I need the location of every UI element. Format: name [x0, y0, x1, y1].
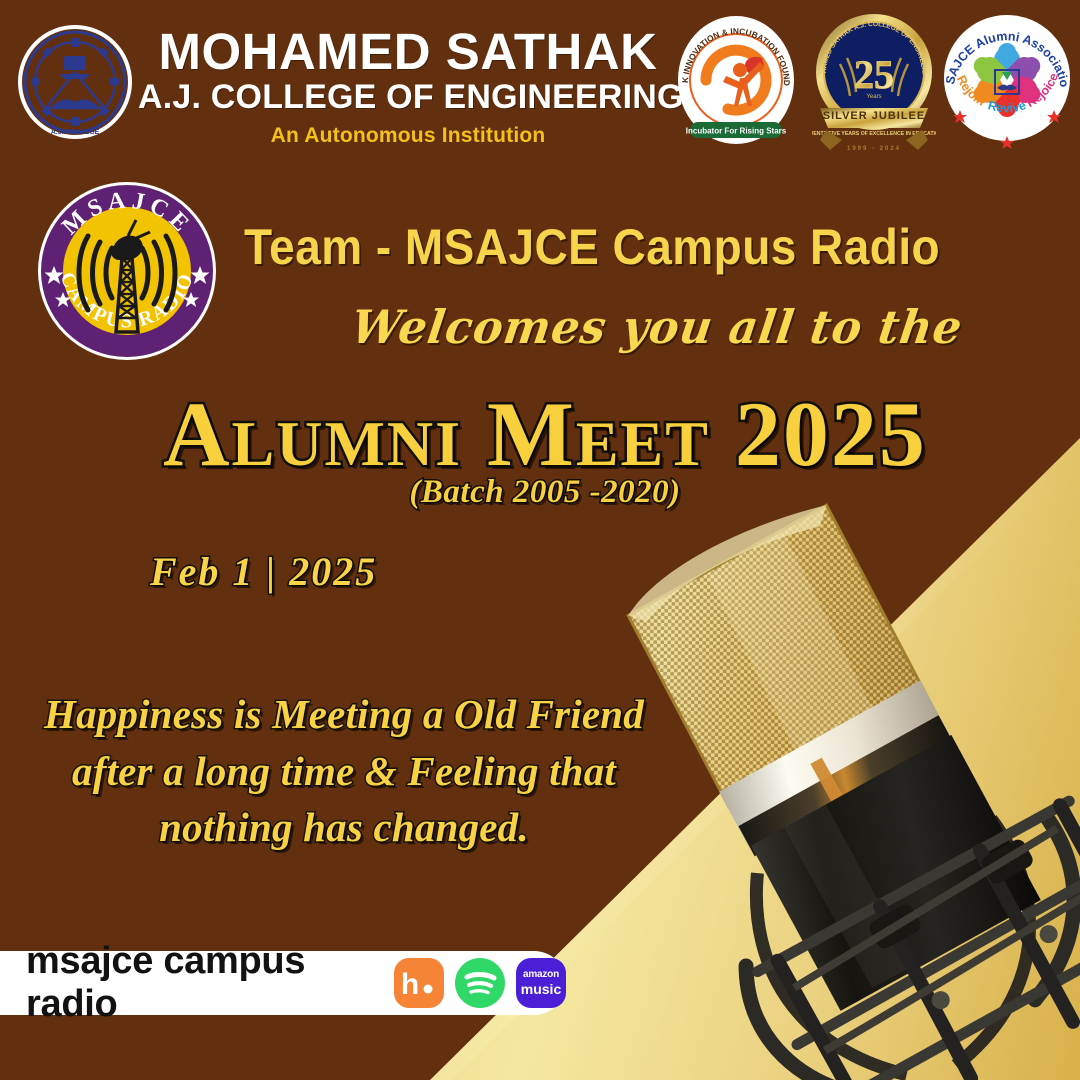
- msajce-campus-radio-logo: MSAJCE CAMPUS RADIO: [36, 180, 218, 362]
- svg-text:h: h: [401, 968, 419, 1001]
- college-crest-logo: A.J. COLLEGE: [16, 22, 134, 142]
- svg-text:Years: Years: [866, 94, 881, 100]
- svg-text:25: 25: [854, 52, 894, 97]
- alumni-meet-poster: A.J. COLLEGE MOHAMED SATHAK A.J. COLLEGE…: [0, 0, 1080, 1080]
- quote-line-1: Happiness is Meeting a Old Friend: [8, 686, 680, 743]
- event-title: Alumni Meet 2025: [60, 388, 1030, 480]
- sathak-innovation-incubation-foundation-logo: SATHAK INNOVATION & INCUBATION FOUNDATIO…: [676, 14, 796, 152]
- event-date: Feb 1 | 2025: [150, 548, 377, 595]
- svg-text:A.J. COLLEGE: A.J. COLLEGE: [51, 129, 100, 136]
- event-quote: Happiness is Meeting a Old Friend after …: [8, 686, 680, 856]
- msajce-alumni-association-logo: MSAJCE Alumni Association: [942, 12, 1072, 154]
- team-line: Team - MSAJCE Campus Radio: [244, 218, 940, 276]
- college-tagline: An Autonomous Institution: [138, 124, 678, 148]
- welcome-line: Welcomes you all to the: [348, 300, 966, 354]
- music-label: music: [521, 982, 561, 996]
- quote-line-2: after a long time & Feeling that: [8, 743, 680, 800]
- platform-icon-list: h amazon music: [394, 958, 566, 1008]
- svg-text:1999 - 2024: 1999 - 2024: [847, 146, 901, 152]
- quote-line-3: nothing has changed.: [8, 799, 680, 856]
- batch-range: (Batch 2005 -2020): [60, 474, 1030, 511]
- channel-handle: msajce campus radio: [26, 940, 377, 1026]
- svg-text:SILVER JUBILEE: SILVER JUBILEE: [823, 110, 925, 122]
- college-name-line2: A.J. COLLEGE OF ENGINEERING: [138, 78, 678, 117]
- svg-text:Incubator For Rising Stars: Incubator For Rising Stars: [686, 127, 787, 136]
- college-name-line1: MOHAMED SATHAK: [138, 26, 678, 78]
- silver-jubilee-logo: MOHAMED SATHAK A.J. COLLEGE OF ENGINEERI…: [812, 12, 936, 154]
- amazon-label: amazon: [521, 970, 561, 980]
- spotify-icon[interactable]: [455, 958, 505, 1008]
- podcast-platforms-bar: msajce campus radio h a: [0, 951, 566, 1015]
- college-title: MOHAMED SATHAK A.J. COLLEGE OF ENGINEERI…: [138, 26, 678, 148]
- poster-header: A.J. COLLEGE MOHAMED SATHAK A.J. COLLEGE…: [0, 0, 1080, 165]
- amazon-music-icon[interactable]: amazon music: [516, 958, 566, 1008]
- hubhopper-icon[interactable]: h: [394, 958, 444, 1008]
